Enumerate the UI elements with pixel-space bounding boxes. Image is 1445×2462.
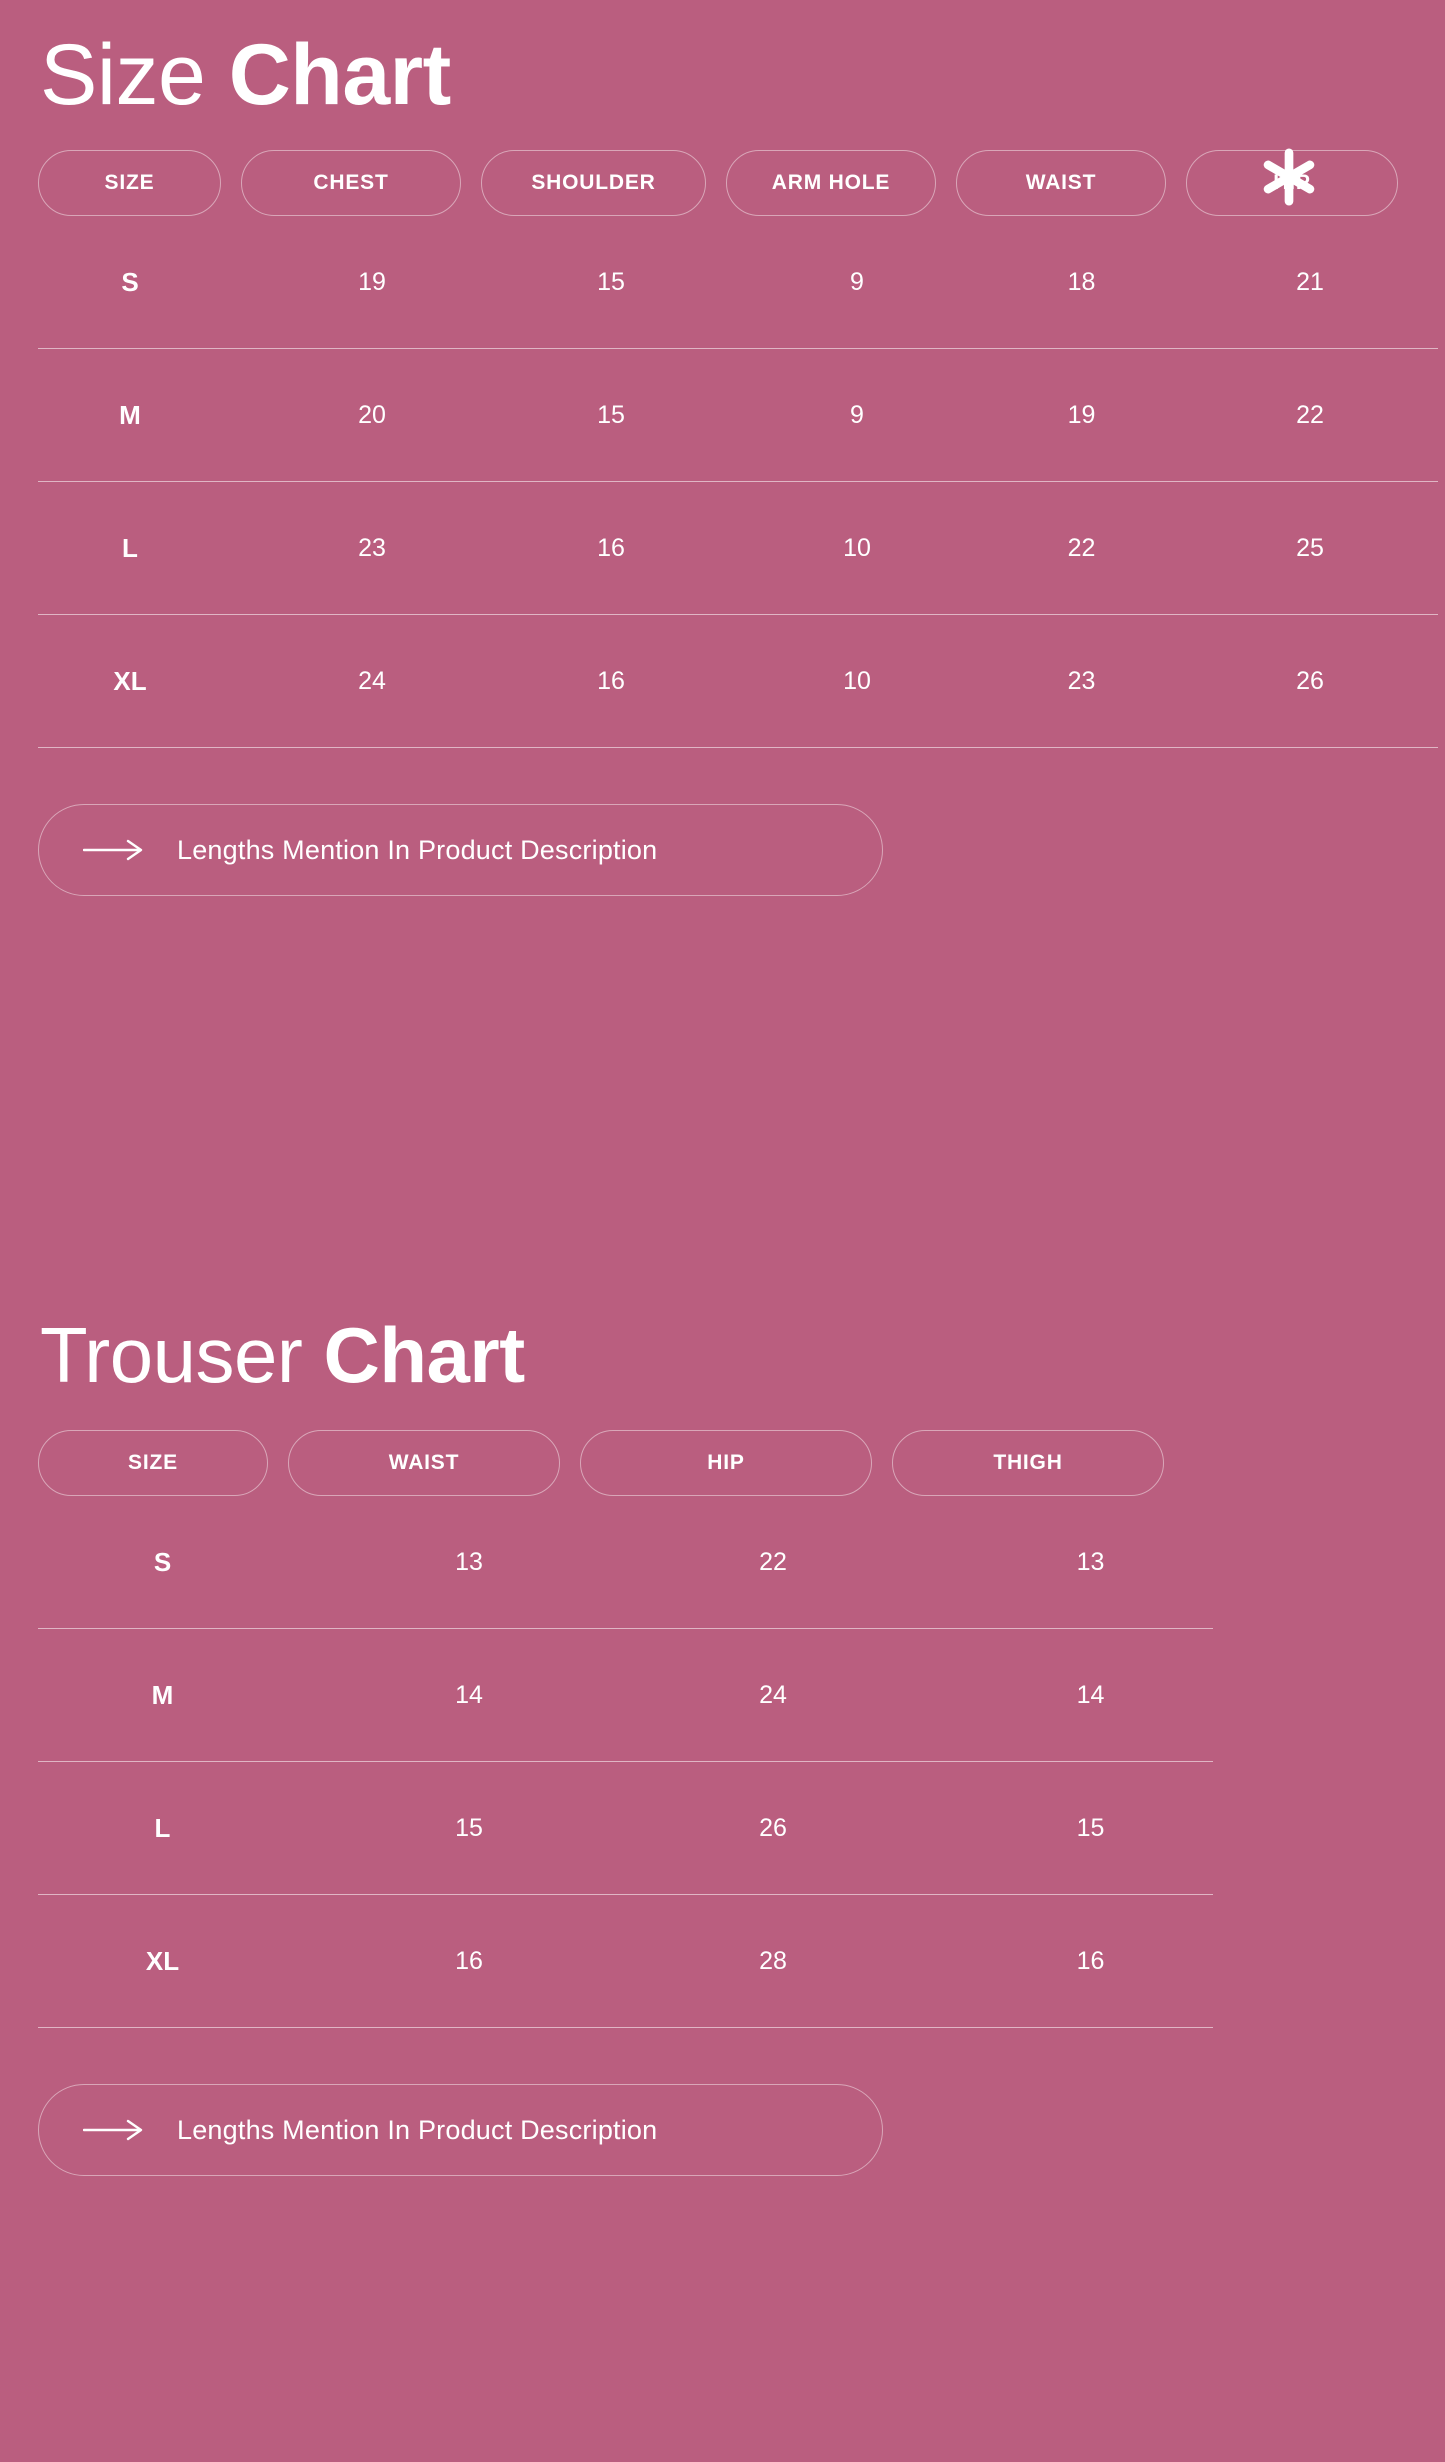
cell-size: M [0, 400, 260, 431]
column-header-waist[interactable]: WAIST [288, 1430, 560, 1496]
size-chart-section: Size Chart SIZE CHEST SHOULDER ARM HOLE … [0, 0, 1445, 896]
size-chart-title-bold: Chart [229, 27, 451, 123]
cell-waist: 22 [976, 534, 1187, 563]
cell-thigh: 14 [933, 1681, 1248, 1710]
arrow-right-icon [83, 839, 145, 861]
cell-hip: 21 [1187, 268, 1433, 297]
size-chart-title-light: Size [40, 27, 205, 123]
cell-hip: 25 [1187, 534, 1433, 563]
trouser-chart-title-row: Trouser Chart [0, 1280, 1445, 1430]
size-chart-header-row: SIZE CHEST SHOULDER ARM HOLE WAIST HIP [0, 150, 1445, 216]
column-header-thigh[interactable]: THIGH [892, 1430, 1164, 1496]
spacer [0, 748, 1445, 804]
cell-size: L [0, 533, 260, 564]
cell-waist: 16 [325, 1947, 613, 1976]
column-header-hip[interactable]: HIP [580, 1430, 872, 1496]
cell-chest: 24 [260, 667, 484, 696]
trouser-chart-table: S 13 22 13 M 14 24 14 L 15 26 15 XL 16 2… [0, 1496, 1445, 2028]
cell-thigh: 16 [933, 1947, 1248, 1976]
cell-waist: 23 [976, 667, 1187, 696]
arrow-right-icon [83, 2119, 145, 2141]
asterisk-icon [1258, 146, 1320, 208]
column-header-size[interactable]: SIZE [38, 150, 221, 216]
table-row: XL 16 28 16 [0, 1895, 1445, 2028]
size-chart-title-row: Size Chart [0, 0, 1445, 150]
table-row: M 20 15 9 19 22 [0, 349, 1445, 482]
cell-size: S [0, 1547, 325, 1578]
cell-waist: 18 [976, 268, 1187, 297]
cell-waist: 13 [325, 1548, 613, 1577]
cell-waist: 19 [976, 401, 1187, 430]
cell-hip: 22 [613, 1548, 933, 1577]
cell-hip: 26 [1187, 667, 1433, 696]
cell-hip: 24 [613, 1681, 933, 1710]
trouser-chart-section: Trouser Chart SIZE WAIST HIP THIGH S 13 [0, 1280, 1445, 2176]
trouser-chart-title-light: Trouser [40, 1311, 302, 1399]
cell-shoulder: 15 [484, 268, 738, 297]
cell-shoulder: 16 [484, 534, 738, 563]
size-chart-note[interactable]: Lengths Mention In Product Description [38, 804, 883, 896]
column-header-size[interactable]: SIZE [38, 1430, 268, 1496]
cell-size: M [0, 1680, 325, 1711]
cell-chest: 20 [260, 401, 484, 430]
table-row: L 15 26 15 [0, 1762, 1445, 1895]
trouser-chart-header-row: SIZE WAIST HIP THIGH [0, 1430, 1445, 1496]
cell-arm-hole: 9 [738, 401, 976, 430]
table-row: S 13 22 13 [0, 1496, 1445, 1629]
cell-shoulder: 16 [484, 667, 738, 696]
cell-shoulder: 15 [484, 401, 738, 430]
column-header-shoulder[interactable]: SHOULDER [481, 150, 706, 216]
table-row: XL 24 16 10 23 26 [0, 615, 1445, 748]
column-header-chest[interactable]: CHEST [241, 150, 461, 216]
spacer [0, 2028, 1445, 2084]
cell-arm-hole: 10 [738, 534, 976, 563]
cell-hip: 26 [613, 1814, 933, 1843]
table-row: M 14 24 14 [0, 1629, 1445, 1762]
cell-size: XL [0, 666, 260, 697]
trouser-chart-note-text: Lengths Mention In Product Description [177, 2115, 657, 2146]
cell-size: XL [0, 1946, 325, 1977]
cell-thigh: 13 [933, 1548, 1248, 1577]
cell-waist: 14 [325, 1681, 613, 1710]
size-chart-page: Size Chart SIZE CHEST SHOULDER ARM HOLE … [0, 0, 1445, 2462]
cell-waist: 15 [325, 1814, 613, 1843]
cell-chest: 19 [260, 268, 484, 297]
trouser-chart-note[interactable]: Lengths Mention In Product Description [38, 2084, 883, 2176]
cell-chest: 23 [260, 534, 484, 563]
cell-hip: 22 [1187, 401, 1433, 430]
column-header-waist[interactable]: WAIST [956, 150, 1166, 216]
size-chart-note-text: Lengths Mention In Product Description [177, 835, 657, 866]
cell-arm-hole: 9 [738, 268, 976, 297]
trouser-chart-title: Trouser Chart [40, 1316, 525, 1394]
cell-thigh: 15 [933, 1814, 1248, 1843]
cell-size: L [0, 1813, 325, 1844]
cell-arm-hole: 10 [738, 667, 976, 696]
table-row: S 19 15 9 18 21 [0, 216, 1445, 349]
cell-size: S [0, 267, 260, 298]
trouser-chart-title-bold: Chart [324, 1311, 525, 1399]
table-row: L 23 16 10 22 25 [0, 482, 1445, 615]
cell-hip: 28 [613, 1947, 933, 1976]
size-chart-table: S 19 15 9 18 21 M 20 15 9 19 22 L 23 16 … [0, 216, 1445, 748]
column-header-arm-hole[interactable]: ARM HOLE [726, 150, 936, 216]
size-chart-title: Size Chart [40, 32, 451, 118]
